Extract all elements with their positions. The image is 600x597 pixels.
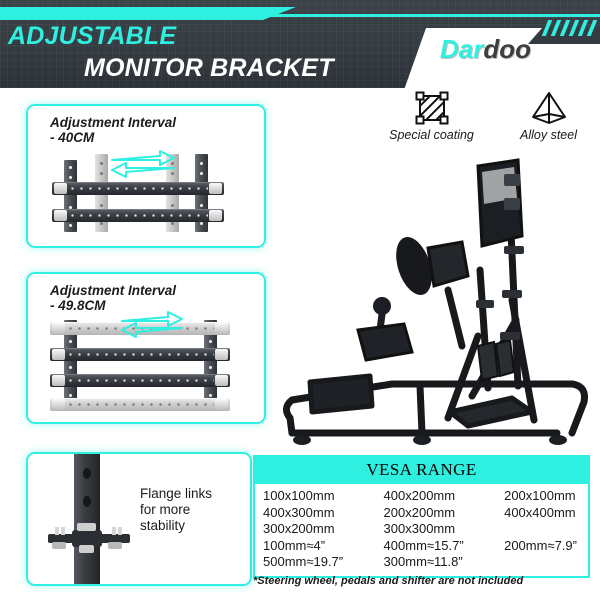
table-cell (496, 554, 588, 571)
product-infographic: ADJUSTABLE MONITOR BRACKET Dardoo (0, 0, 600, 597)
table-cell (496, 521, 588, 538)
material-label-coating: Special coating (389, 128, 474, 142)
feature-box-interval-49-8cm: Adjustment Interval - 49.8CM (26, 272, 266, 424)
bracket-rail (52, 209, 224, 222)
support-column (74, 454, 100, 584)
table-row: 100mm≈4” 400mm≈15.7” 200mm≈7.9” (255, 538, 588, 555)
brand-logo-part2: doo (483, 34, 531, 64)
table-row: 100x100mm 400x200mm 200x100mm (255, 488, 588, 505)
vesa-table-body: 100x100mm 400x200mm 200x100mm 400x300mm … (255, 484, 588, 576)
table-cell: 300mm≈11.8” (376, 554, 497, 571)
header-banner: ADJUSTABLE MONITOR BRACKET Dardoo (0, 0, 600, 88)
material-badge-coating: Special coating (384, 90, 479, 152)
feature-box-interval-40cm: Adjustment Interval - 40CM (26, 104, 266, 248)
vesa-disclaimer-note: *Steering wheel, pedals and shifter are … (253, 575, 523, 587)
header-title-line1: ADJUSTABLE (8, 22, 176, 51)
double-arrow-icon (116, 310, 188, 343)
vesa-table-heading: VESA RANGE (255, 457, 588, 484)
product-image-racing-cockpit (272, 150, 598, 450)
corner-cut-top-left (26, 452, 42, 469)
header-accent-bar (0, 7, 296, 20)
double-arrow-icon (106, 148, 180, 183)
table-row: 500mm≈19.7” 300mm≈11.8” (255, 554, 588, 571)
table-cell: 400x400mm (496, 505, 588, 522)
table-cell: 500mm≈19.7” (255, 554, 376, 571)
table-cell: 100mm≈4” (255, 538, 376, 555)
vesa-range-table: VESA RANGE 100x100mm 400x200mm 200x100mm… (253, 455, 590, 578)
material-badge-steel: Alloy steel (501, 90, 596, 152)
header-slash-decor (545, 20, 597, 36)
table-row: 400x300mm 200x200mm 400x400mm (255, 505, 588, 522)
table-cell: 200mm≈7.9” (496, 538, 588, 555)
bracket-rail (52, 182, 224, 195)
table-cell: 400x300mm (255, 505, 376, 522)
bracket-rail (50, 398, 230, 411)
bracket-rail (50, 374, 230, 387)
material-label-steel: Alloy steel (520, 128, 577, 142)
table-row: 300x200mm 300x300mm (255, 521, 588, 538)
table-cell: 200x100mm (496, 488, 588, 505)
flange-clamp-icon (44, 522, 134, 556)
header-title-line2: MONITOR BRACKET (84, 54, 334, 83)
brand-logo-part1: Dar (440, 34, 483, 64)
table-cell: 400mm≈15.7” (376, 538, 497, 555)
table-cell: 100x100mm (255, 488, 376, 505)
material-badges: Special coating Alloy steel (384, 90, 596, 152)
table-cell: 200x200mm (376, 505, 497, 522)
feature-box-flange-links: Flange links for more stability (26, 452, 252, 586)
table-cell: 300x200mm (255, 521, 376, 538)
brand-logo: Dardoo (440, 34, 531, 65)
corner-cut-bottom-right (236, 569, 252, 586)
table-cell: 300x300mm (376, 521, 497, 538)
bracket-diagram-40cm (28, 106, 264, 246)
table-cell: 400x200mm (376, 488, 497, 505)
header-accent-line (265, 14, 600, 17)
bracket-diagram-49-8cm (28, 274, 264, 422)
pyramid-icon (529, 90, 569, 126)
hatched-square-icon (415, 90, 449, 126)
feature-title-3: Flange links for more stability (140, 486, 212, 534)
bracket-rail (50, 348, 230, 361)
